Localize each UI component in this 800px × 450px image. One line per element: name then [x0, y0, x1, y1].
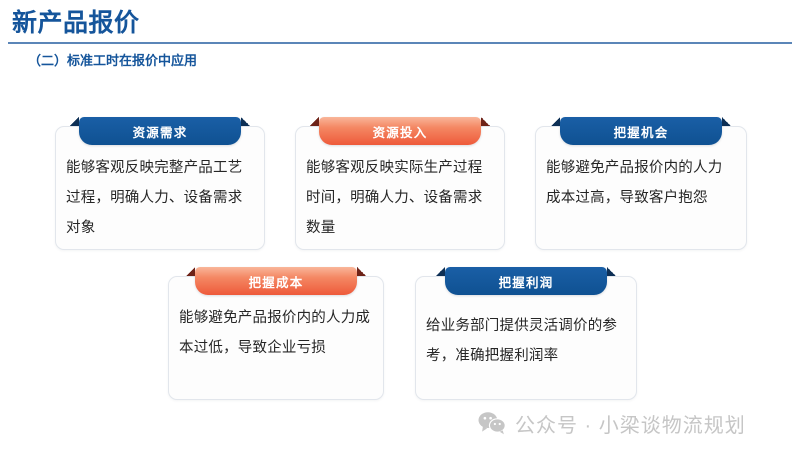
ribbon-fold-left-icon	[436, 267, 445, 276]
card-grasp-opportunity: 把握机会 能够避免产品报价内的人力成本过高，导致客户抱怨	[535, 126, 747, 250]
card-header-grasp-cost: 把握成本	[195, 267, 357, 295]
card-body: 能够客观反映完整产品工艺过程，明确人力、设备需求对象	[56, 153, 264, 243]
ribbon-fold-right-icon	[722, 117, 731, 126]
page-subtitle: （二）标准工时在报价中应用	[28, 50, 197, 69]
card-title: 把握机会	[614, 122, 669, 141]
ribbon-fold-left-icon	[186, 267, 195, 276]
card-grasp-cost: 把握成本 能够避免产品报价内的人力成本过低，导致企业亏损	[168, 276, 384, 400]
card-header-wrap: 把握利润	[445, 267, 607, 295]
ribbon-fold-right-icon	[241, 117, 250, 126]
ribbon-fold-left-icon	[551, 117, 560, 126]
card-header-wrap: 把握机会	[560, 117, 722, 145]
ribbon-fold-left-icon	[70, 117, 79, 126]
card-header-wrap: 把握成本	[195, 267, 357, 295]
card-title: 资源需求	[133, 122, 188, 141]
slide-header: 新产品报价 （二）标准工时在报价中应用	[0, 0, 800, 46]
ribbon-fold-right-icon	[607, 267, 616, 276]
card-title: 把握利润	[499, 272, 554, 291]
card-body: 能够避免产品报价内的人力成本过高，导致客户抱怨	[536, 153, 746, 213]
card-resource-input: 资源投入 能够客观反映实际生产过程时间，明确人力、设备需求数量	[295, 126, 505, 250]
watermark-text: 公众号 · 小梁谈物流规划	[515, 409, 746, 438]
card-header-grasp-profit: 把握利润	[445, 267, 607, 295]
card-header-resource-input: 资源投入	[319, 117, 481, 145]
ribbon-fold-right-icon	[357, 267, 366, 276]
slide-canvas: 新产品报价 （二）标准工时在报价中应用 资源需求 能够客观反映完整产品工艺过程，…	[0, 0, 800, 450]
watermark: 公众号 · 小梁谈物流规划	[478, 406, 746, 440]
page-title: 新产品报价	[12, 8, 140, 38]
card-header-wrap: 资源投入	[319, 117, 481, 145]
card-title: 把握成本	[249, 272, 304, 291]
card-body: 能够避免产品报价内的人力成本过低，导致企业亏损	[169, 303, 383, 363]
card-header-resource-demand: 资源需求	[79, 117, 241, 145]
card-title: 资源投入	[373, 122, 428, 141]
card-header-wrap: 资源需求	[79, 117, 241, 145]
card-resource-demand: 资源需求 能够客观反映完整产品工艺过程，明确人力、设备需求对象	[55, 126, 265, 250]
card-grasp-profit: 把握利润 给业务部门提供灵活调价的参考，准确把握利润率	[415, 276, 637, 400]
card-header-grasp-opportunity: 把握机会	[560, 117, 722, 145]
ribbon-fold-right-icon	[481, 117, 490, 126]
card-body: 能够客观反映实际生产过程时间，明确人力、设备需求数量	[296, 153, 504, 243]
title-divider	[8, 42, 792, 44]
wechat-icon	[478, 411, 506, 435]
card-body: 给业务部门提供灵活调价的参考，准确把握利润率	[416, 311, 636, 371]
ribbon-fold-left-icon	[310, 117, 319, 126]
